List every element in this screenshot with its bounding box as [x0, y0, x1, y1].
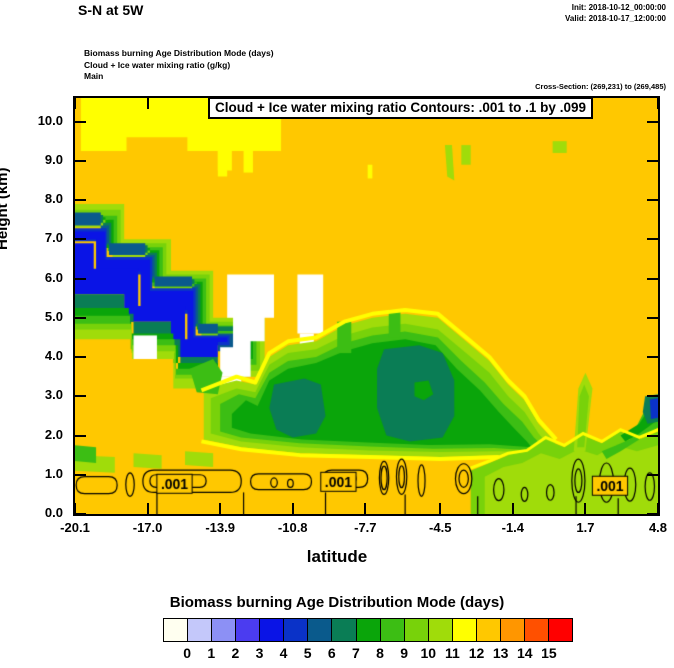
colorbar-label-5: 5: [296, 645, 320, 661]
x-tick-label-1.7: 1.7: [555, 520, 615, 535]
colorbar-cell-4: [260, 619, 284, 641]
y-axis-label: Height (km): [0, 168, 11, 251]
colorbar-cell-14: [501, 619, 525, 641]
y-tick-label-10.0: 10.0: [15, 113, 63, 128]
colorbar: [163, 618, 573, 642]
colorbar-label-8: 8: [368, 645, 392, 661]
colorbar-cell-1: [188, 619, 212, 641]
colorbar-cell-3: [236, 619, 260, 641]
colorbar-label-3: 3: [247, 645, 271, 661]
x-tick-label-4.8: 4.8: [628, 520, 674, 535]
colorbar-label-4: 4: [272, 645, 296, 661]
colorbar-cell-16: [549, 619, 572, 641]
x-tick-label--17.0: -17.0: [118, 520, 178, 535]
colorbar-tick-labels: 0123456789101112131415: [163, 645, 573, 665]
x-tick-label--1.4: -1.4: [483, 520, 543, 535]
heatmap-canvas: [75, 98, 658, 514]
colorbar-cell-10: [405, 619, 429, 641]
colorbar-cell-9: [381, 619, 405, 641]
x-tick-label--4.5: -4.5: [410, 520, 470, 535]
colorbar-cell-13: [477, 619, 501, 641]
x-tick-label--20.1: -20.1: [45, 520, 105, 535]
colorbar-label-13: 13: [489, 645, 513, 661]
colorbar-label-14: 14: [513, 645, 537, 661]
y-tick-label-6.0: 6.0: [15, 270, 63, 285]
y-tick-label-0.0: 0.0: [15, 505, 63, 520]
colorbar-label-15: 15: [537, 645, 561, 661]
colorbar-cell-12: [453, 619, 477, 641]
x-tick-label--10.8: -10.8: [263, 520, 323, 535]
colorbar-label-0: 0: [175, 645, 199, 661]
x-axis-label: latitude: [0, 547, 674, 567]
colorbar-label-7: 7: [344, 645, 368, 661]
y-tick-label-7.0: 7.0: [15, 230, 63, 245]
y-tick-label-2.0: 2.0: [15, 427, 63, 442]
colorbar-cell-15: [525, 619, 549, 641]
field-description-block: Biomass burning Age Distribution Mode (d…: [84, 48, 274, 83]
y-tick-label-9.0: 9.0: [15, 152, 63, 167]
y-tick-label-4.0: 4.0: [15, 348, 63, 363]
colorbar-label-9: 9: [392, 645, 416, 661]
y-tick-label-5.0: 5.0: [15, 309, 63, 324]
x-tick-label--7.7: -7.7: [335, 520, 395, 535]
colorbar-label-1: 1: [199, 645, 223, 661]
valid-time: Valid: 2018-10-17_12:00:00: [565, 13, 666, 24]
field-shaded-label: Biomass burning Age Distribution Mode (d…: [84, 48, 274, 60]
y-tick-label-3.0: 3.0: [15, 387, 63, 402]
colorbar-label-11: 11: [440, 645, 464, 661]
y-tick-label-8.0: 8.0: [15, 191, 63, 206]
y-tick-label-1.0: 1.0: [15, 466, 63, 481]
field-contour-label: Cloud + Ice water mixing ratio (g/kg): [84, 60, 274, 72]
colorbar-cell-0: [164, 619, 188, 641]
colorbar-cell-11: [429, 619, 453, 641]
colorbar-cell-6: [308, 619, 332, 641]
colorbar-cell-5: [284, 619, 308, 641]
colorbar-label-6: 6: [320, 645, 344, 661]
colorbar-cell-8: [357, 619, 381, 641]
init-time: Init: 2018-10-12_00:00:00: [565, 2, 666, 13]
field-domain-label: Main: [84, 71, 274, 83]
contour-banner: Cloud + Ice water mixing ratio Contours:…: [208, 97, 593, 119]
x-tick-label--13.9: -13.9: [190, 520, 250, 535]
cross-section-plot: Cloud + Ice water mixing ratio Contours:…: [73, 96, 660, 516]
run-time-block: Init: 2018-10-12_00:00:00 Valid: 2018-10…: [565, 2, 666, 24]
cross-section-coords: Cross-Section: (269,231) to (269,485): [535, 82, 666, 91]
colorbar-label-10: 10: [416, 645, 440, 661]
colorbar-cell-2: [212, 619, 236, 641]
colorbar-title: Biomass burning Age Distribution Mode (d…: [0, 594, 674, 611]
colorbar-label-2: 2: [223, 645, 247, 661]
colorbar-label-12: 12: [465, 645, 489, 661]
page-title: S-N at 5W: [78, 2, 143, 18]
colorbar-cell-7: [332, 619, 356, 641]
